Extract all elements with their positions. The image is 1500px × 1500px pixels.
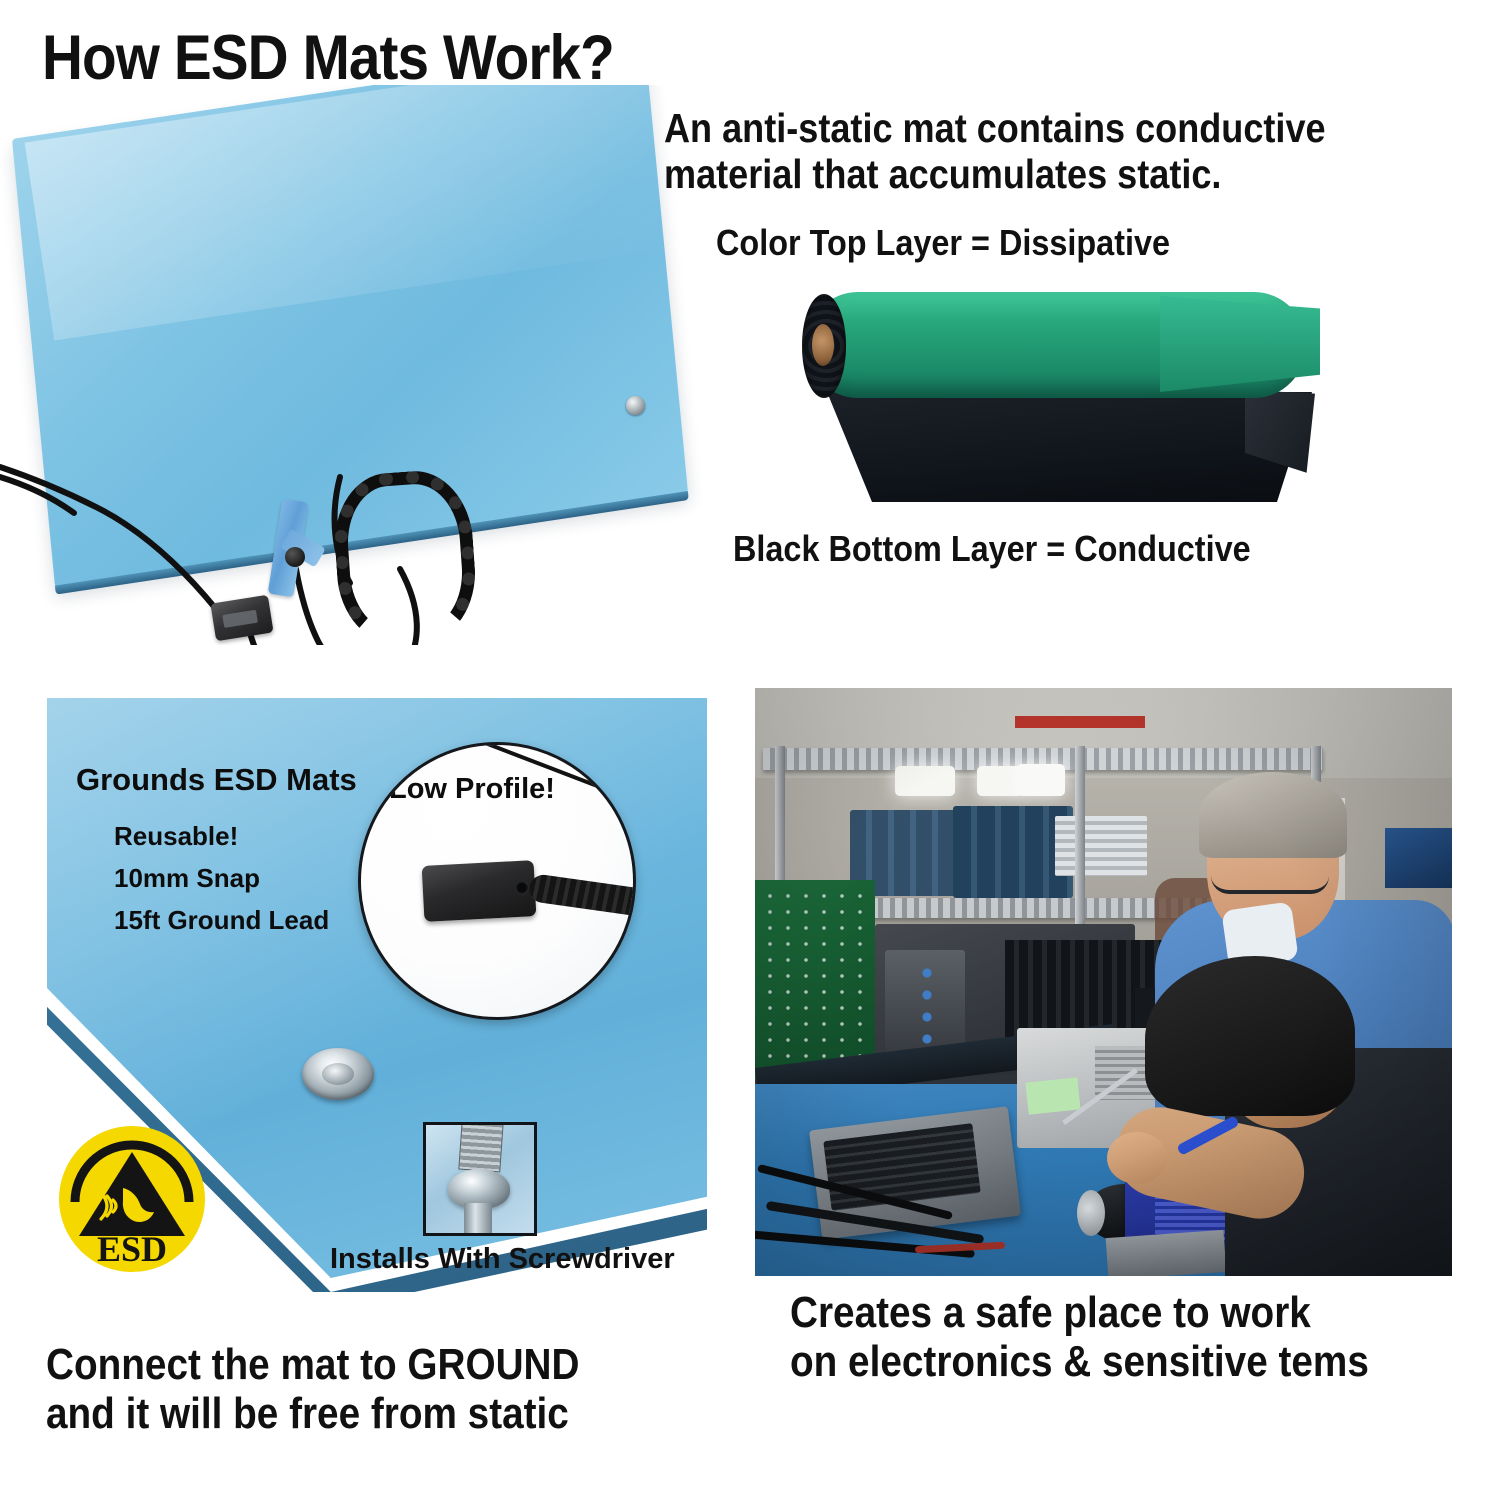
thumbnail-caption: Installs With Screwdriver bbox=[330, 1243, 675, 1276]
page-title: How ESD Mats Work? bbox=[42, 22, 614, 94]
list-item: 10mm Snap bbox=[114, 857, 329, 899]
esd-logo-text: ESD bbox=[97, 1229, 167, 1269]
list-item: Reusable! bbox=[114, 815, 329, 857]
snap-shaft-icon bbox=[464, 1203, 492, 1233]
footer-right-line-2: on electronics & sensitive tems bbox=[790, 1337, 1406, 1386]
roll-core-icon bbox=[812, 324, 834, 366]
coiled-cord-icon bbox=[330, 467, 480, 645]
intro-text: An anti-static mat contains conductive m… bbox=[664, 106, 1368, 198]
wrist-strap-stud-icon bbox=[285, 547, 305, 567]
infographic-canvas: How ESD Mats Work? An anti-static mat co… bbox=[0, 0, 1500, 1500]
mat-panel-title: Grounds ESD Mats bbox=[76, 762, 357, 798]
screwdriver-install-thumbnail bbox=[423, 1122, 537, 1236]
ground-cord-plug-icon bbox=[422, 860, 537, 922]
footer-caption-right: Creates a safe place to work on electron… bbox=[790, 1288, 1406, 1387]
bottom-layer-caption: Black Bottom Layer = Conductive bbox=[733, 528, 1251, 570]
list-item: 15ft Ground Lead bbox=[114, 899, 329, 941]
footer-caption-left: Connect the mat to GROUND and it will be… bbox=[46, 1340, 644, 1439]
footer-left-line-2: and it will be free from static bbox=[46, 1389, 644, 1438]
ribbed-cable-icon bbox=[528, 873, 636, 917]
mat-feature-list: Reusable! 10mm Snap 15ft Ground Lead bbox=[114, 815, 329, 941]
snap-stud-icon bbox=[302, 1048, 374, 1100]
callout-label: Low Profile! bbox=[389, 773, 555, 806]
footer-right-line-1: Creates a safe place to work bbox=[790, 1288, 1406, 1337]
esd-warning-icon: ESD bbox=[57, 1124, 207, 1274]
esd-mat-kit-photo bbox=[0, 85, 740, 645]
top-layer-caption: Color Top Layer = Dissipative bbox=[716, 222, 1170, 264]
workbench-photo bbox=[755, 688, 1452, 1276]
low-profile-callout: Low Profile! bbox=[358, 742, 636, 1020]
roll-black-bottom-layer bbox=[812, 392, 1312, 502]
esd-mat-roll-photo bbox=[790, 282, 1370, 512]
screwdriver-icon bbox=[458, 1122, 503, 1172]
photo-vignette bbox=[755, 688, 1452, 1276]
roll-green-taper bbox=[1160, 296, 1320, 392]
footer-left-line-1: Connect the mat to GROUND bbox=[46, 1340, 644, 1389]
